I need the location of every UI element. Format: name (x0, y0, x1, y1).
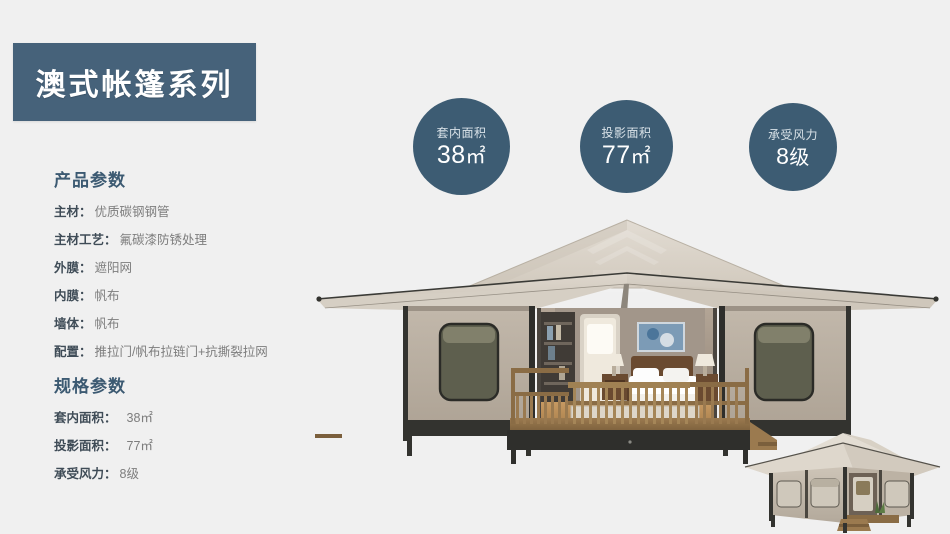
window-right (755, 324, 813, 400)
stat-unit: ㎡ (466, 146, 487, 168)
spec-value: 77㎡ (127, 435, 153, 454)
spec-row: 投影面积： 77㎡ (54, 435, 153, 454)
product-params-section: 产品参数 主材： 优质碳钢钢管 主材工艺： 氟碳漆防锈处理 外膜： 遮阳网 内膜… (54, 166, 268, 369)
spec-row: 外膜： 遮阳网 (54, 257, 268, 276)
spec-value: 帆布 (95, 313, 120, 332)
stat-label: 投影面积 (601, 124, 651, 141)
stat-badge-wind-resistance: 承受风力 8级 (749, 103, 837, 191)
spec-params-heading: 规格参数 (54, 372, 153, 397)
spec-key: 内膜： (54, 285, 92, 304)
stat-unit: ㎡ (631, 146, 652, 168)
spec-key: 主材工艺： (54, 229, 117, 248)
spec-row: 内膜： 帆布 (54, 285, 268, 304)
spec-row: 主材工艺： 氟碳漆防锈处理 (54, 229, 268, 248)
spec-value: 38㎡ (127, 407, 153, 426)
stat-number: 8 (776, 143, 789, 169)
spec-row: 承受风力： 8级 (54, 463, 153, 482)
stat-badge-projected-area: 投影面积 77㎡ (580, 100, 673, 193)
spec-value: 氟碳漆防锈处理 (120, 229, 208, 248)
spec-row: 墙体： 帆布 (54, 313, 268, 332)
stat-number: 38 (437, 141, 466, 169)
small-tent-body (769, 467, 914, 533)
stat-label: 承受风力 (768, 126, 818, 143)
page-title: 澳式帐篷系列 (36, 60, 234, 104)
spec-key: 外膜： (54, 257, 92, 276)
spec-row: 配置： 推拉门/帆布拉链门+抗撕裂拉网 (54, 341, 268, 360)
spec-key: 主材： (54, 201, 92, 220)
stat-value: 38㎡ (437, 142, 486, 168)
spec-value: 优质碳钢钢管 (95, 201, 170, 220)
spec-value: 8级 (120, 463, 139, 482)
spec-params-section: 规格参数 套内面积： 38㎡ 投影面积： 77㎡ 承受风力： 8级 (54, 372, 153, 491)
stat-unit: 级 (789, 147, 810, 169)
title-banner: 澳式帐篷系列 (13, 43, 256, 121)
spec-key: 承受风力： (54, 463, 117, 482)
tent-secondary-illustration (735, 415, 950, 534)
stat-number: 77 (602, 141, 631, 169)
spec-row: 套内面积： 38㎡ (54, 407, 153, 426)
stat-value: 8级 (776, 144, 810, 169)
spec-value: 帆布 (95, 285, 120, 304)
spec-key: 投影面积： (54, 435, 117, 454)
window-left (440, 324, 498, 400)
spec-key: 墙体： (54, 313, 92, 332)
stat-label: 套内面积 (436, 124, 486, 141)
stat-badge-interior-area: 套内面积 38㎡ (413, 98, 510, 195)
spec-key: 配置： (54, 341, 92, 360)
spec-value: 遮阳网 (95, 257, 133, 276)
product-params-heading: 产品参数 (54, 166, 268, 191)
spec-row: 主材： 优质碳钢钢管 (54, 201, 268, 220)
stat-value: 77㎡ (602, 142, 651, 168)
spec-key: 套内面积： (54, 407, 117, 426)
spec-value: 推拉门/帆布拉链门+抗撕裂拉网 (95, 341, 268, 360)
slide-canvas: 澳式帐篷系列 产品参数 主材： 优质碳钢钢管 主材工艺： 氟碳漆防锈处理 外膜：… (0, 0, 950, 534)
